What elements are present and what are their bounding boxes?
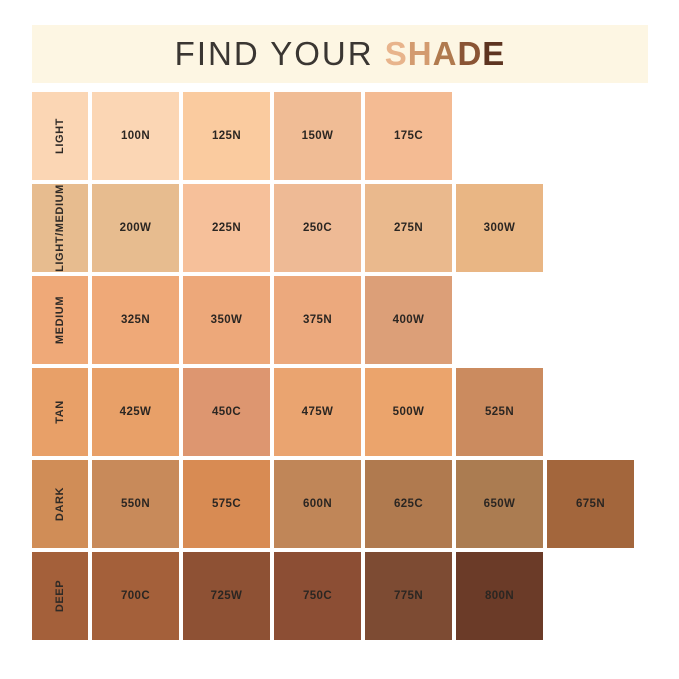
title-accent-text: SHADE [385, 35, 506, 72]
shade-swatch-250c[interactable]: 250C [274, 184, 361, 272]
shade-code-label: 125N [212, 130, 241, 142]
shade-code-label: 750C [303, 590, 332, 602]
shade-code-label: 575C [212, 498, 241, 510]
shade-swatch-525n[interactable]: 525N [456, 368, 543, 456]
shade-code-label: 500W [393, 406, 425, 418]
row-label-text: MEDIUM [54, 296, 66, 344]
shade-swatch-575c[interactable]: 575C [183, 460, 270, 548]
title-accent-letter-d-3: D [457, 35, 482, 72]
shade-swatch-375n[interactable]: 375N [274, 276, 361, 364]
shade-chart-page: FIND YOUR SHADE LIGHT100N125N150W175CLIG… [0, 0, 679, 679]
shade-swatch-625c[interactable]: 625C [365, 460, 452, 548]
shade-row: LIGHT100N125N150W175C [32, 92, 634, 180]
shade-swatch-500w[interactable]: 500W [365, 368, 452, 456]
shade-swatch-450c[interactable]: 450C [183, 368, 270, 456]
shade-code-label: 650W [484, 498, 516, 510]
title-accent-letter-a-2: A [433, 35, 458, 72]
shade-code-label: 300W [484, 222, 516, 234]
shade-row: LIGHT/MEDIUM200W225N250C275N300W [32, 184, 634, 272]
shade-row: MEDIUM325N350W375N400W [32, 276, 634, 364]
shade-swatch-425w[interactable]: 425W [92, 368, 179, 456]
shade-row: DARK550N575C600N625C650W675N [32, 460, 634, 548]
row-label-text: TAN [54, 400, 66, 424]
shade-code-label: 150W [302, 130, 334, 142]
shade-code-label: 675N [576, 498, 605, 510]
shade-code-label: 350W [211, 314, 243, 326]
shade-swatch-775n[interactable]: 775N [365, 552, 452, 640]
shade-swatch-200w[interactable]: 200W [92, 184, 179, 272]
shade-code-label: 375N [303, 314, 332, 326]
shade-swatch-350w[interactable]: 350W [183, 276, 270, 364]
row-label-cell-medium: MEDIUM [32, 276, 88, 364]
shade-swatch-175c[interactable]: 175C [365, 92, 452, 180]
shade-swatch-550n[interactable]: 550N [92, 460, 179, 548]
row-label-text: LIGHT/MEDIUM [54, 184, 66, 272]
shade-swatch-700c[interactable]: 700C [92, 552, 179, 640]
shade-code-label: 475W [302, 406, 334, 418]
shade-code-label: 325N [121, 314, 150, 326]
shade-code-label: 225N [212, 222, 241, 234]
shade-swatch-275n[interactable]: 275N [365, 184, 452, 272]
shade-grid: LIGHT100N125N150W175CLIGHT/MEDIUM200W225… [32, 92, 634, 644]
row-label-cell-light-medium: LIGHT/MEDIUM [32, 184, 88, 272]
shade-swatch-325n[interactable]: 325N [92, 276, 179, 364]
header-banner: FIND YOUR SHADE [32, 25, 648, 83]
shade-swatch-600n[interactable]: 600N [274, 460, 361, 548]
shade-code-label: 700C [121, 590, 150, 602]
row-label-cell-tan: TAN [32, 368, 88, 456]
shade-code-label: 425W [120, 406, 152, 418]
shade-row: DEEP700C725W750C775N800N [32, 552, 634, 640]
shade-row: TAN425W450C475W500W525N [32, 368, 634, 456]
shade-swatch-725w[interactable]: 725W [183, 552, 270, 640]
shade-code-label: 400W [393, 314, 425, 326]
shade-swatch-750c[interactable]: 750C [274, 552, 361, 640]
shade-swatch-675n[interactable]: 675N [547, 460, 634, 548]
title-accent-letter-h-1: H [408, 35, 433, 72]
shade-swatch-225n[interactable]: 225N [183, 184, 270, 272]
shade-code-label: 800N [485, 590, 514, 602]
shade-swatch-400w[interactable]: 400W [365, 276, 452, 364]
shade-code-label: 625C [394, 498, 423, 510]
shade-swatch-650w[interactable]: 650W [456, 460, 543, 548]
row-label-cell-deep: DEEP [32, 552, 88, 640]
shade-code-label: 550N [121, 498, 150, 510]
row-label-text: DEEP [54, 580, 66, 612]
shade-code-label: 725W [211, 590, 243, 602]
shade-code-label: 250C [303, 222, 332, 234]
shade-swatch-150w[interactable]: 150W [274, 92, 361, 180]
shade-code-label: 275N [394, 222, 423, 234]
shade-code-label: 450C [212, 406, 241, 418]
shade-code-label: 775N [394, 590, 423, 602]
title-accent-letter-e-4: E [482, 35, 505, 72]
row-label-text: DARK [54, 487, 66, 521]
shade-swatch-300w[interactable]: 300W [456, 184, 543, 272]
page-title: FIND YOUR SHADE [175, 35, 506, 73]
shade-code-label: 200W [120, 222, 152, 234]
shade-swatch-100n[interactable]: 100N [92, 92, 179, 180]
row-label-cell-dark: DARK [32, 460, 88, 548]
title-accent-letter-s-0: S [385, 35, 408, 72]
shade-swatch-800n[interactable]: 800N [456, 552, 543, 640]
shade-code-label: 100N [121, 130, 150, 142]
shade-code-label: 525N [485, 406, 514, 418]
row-label-text: LIGHT [54, 118, 66, 154]
shade-swatch-125n[interactable]: 125N [183, 92, 270, 180]
shade-code-label: 600N [303, 498, 332, 510]
shade-swatch-475w[interactable]: 475W [274, 368, 361, 456]
row-label-cell-light: LIGHT [32, 92, 88, 180]
shade-code-label: 175C [394, 130, 423, 142]
title-plain-text: FIND YOUR [175, 35, 385, 72]
